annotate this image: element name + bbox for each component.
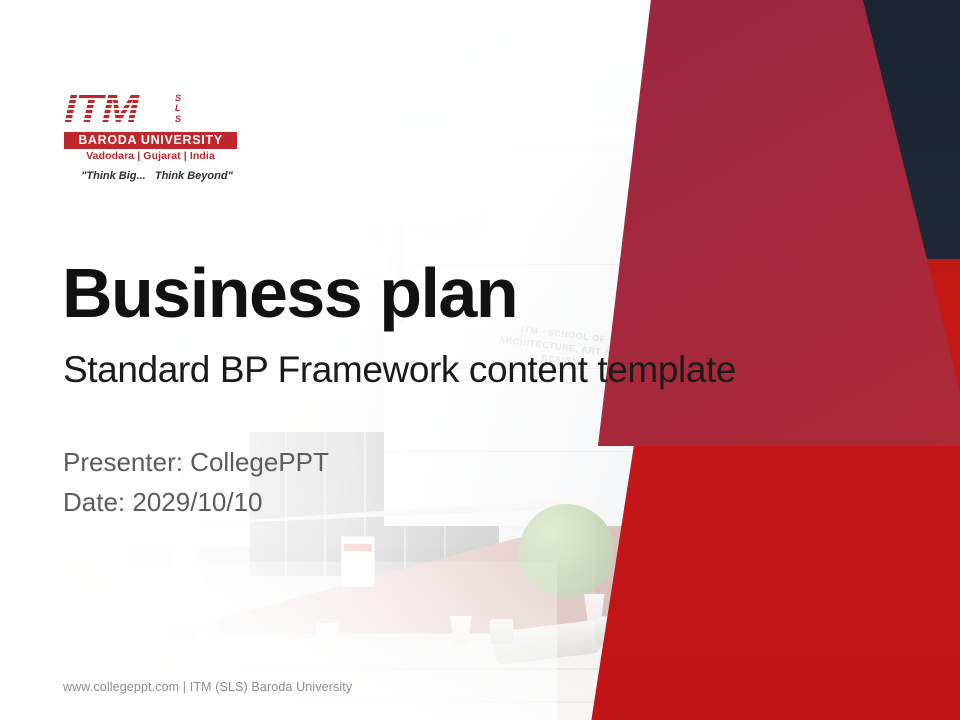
- logo-wordmark-text: ITM: [64, 88, 185, 130]
- slide-subtitle: Standard BP Framework content template: [63, 350, 736, 391]
- slide-meta: Presenter: CollegePPT Date: 2029/10/10: [63, 442, 329, 523]
- logo-mark: ITM S L S: [64, 88, 188, 130]
- date-line: Date: 2029/10/10: [63, 482, 329, 522]
- logo-wordmark: ITM: [64, 88, 172, 130]
- logo-location: Vadodara | Gujarat | India: [64, 149, 237, 162]
- slide-footer: www.collegeppt.com | ITM (SLS) Baroda Un…: [63, 680, 352, 694]
- logo-institution-bar: BARODA UNIVERSITY: [64, 132, 237, 149]
- itm-baroda-university-logo: ITM S L S BARODA UNIVERSITY Vadodara | G…: [64, 88, 250, 182]
- logo-tagline: "Think Big... Think Beyond": [64, 162, 250, 182]
- presenter-line: Presenter: CollegePPT: [63, 442, 329, 482]
- slide-content: ITM S L S BARODA UNIVERSITY Vadodara | G…: [0, 0, 960, 720]
- title-slide: ITM - SCHOOL OF ARCHITECTURE, ART AND DE…: [0, 0, 960, 720]
- slide-title: Business plan: [62, 258, 517, 328]
